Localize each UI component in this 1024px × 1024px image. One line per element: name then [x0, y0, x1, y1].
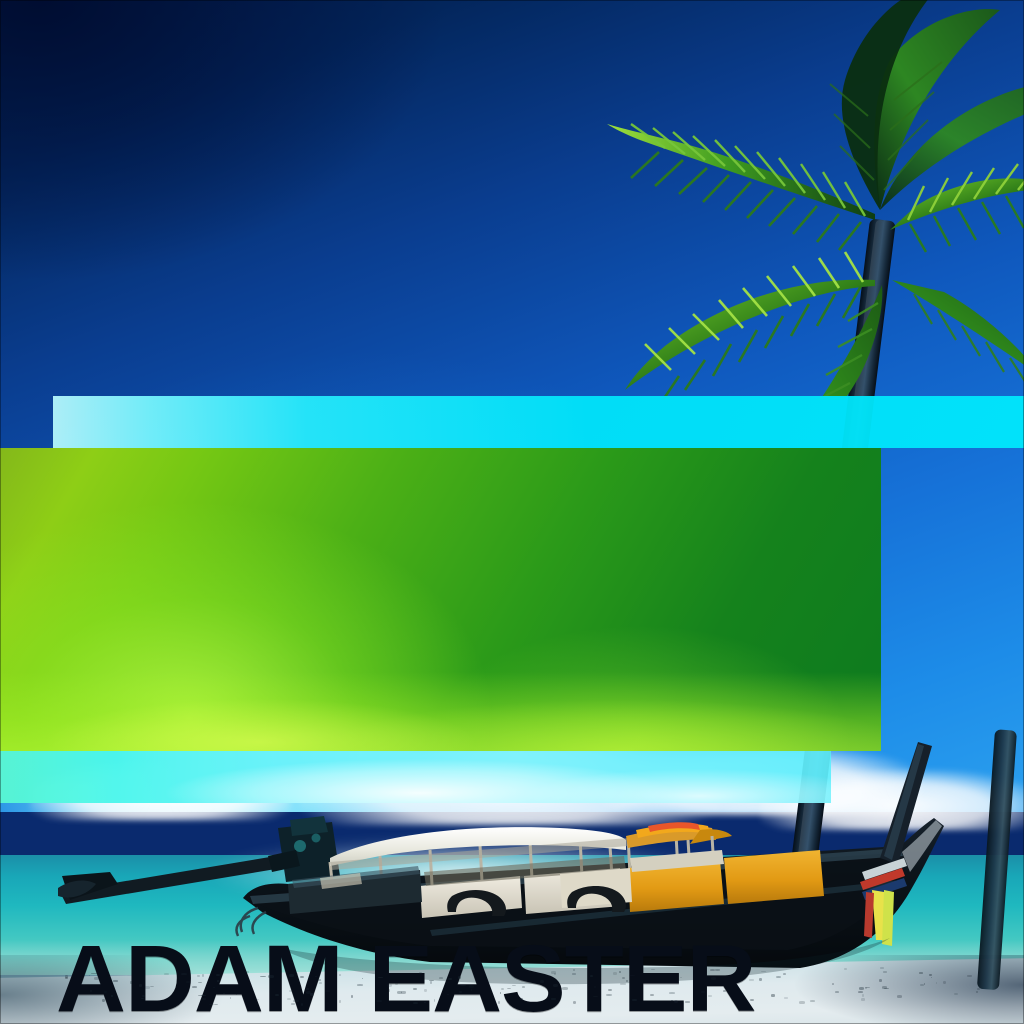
beach-speck: [113, 980, 118, 982]
beach-speck: [632, 999, 637, 1001]
beach-speck: [164, 973, 169, 975]
beach-speck: [685, 1001, 690, 1003]
beach-speck: [711, 977, 716, 980]
beach-speck: [130, 981, 132, 984]
beach-speck: [289, 990, 293, 992]
beach-speck: [967, 975, 972, 977]
beach-speck: [300, 976, 304, 978]
beach-speck: [268, 975, 274, 978]
cyan-band-bottom: [0, 751, 831, 803]
beach-speck: [976, 991, 978, 993]
beach-speck: [94, 977, 99, 980]
beach-speck: [65, 975, 68, 978]
cyan-band-top: [53, 396, 1024, 448]
title-block: ADAM EASTER FEAT. STEPHANIE THE SUMMER H…: [0, 448, 881, 751]
beach-speck: [306, 991, 311, 994]
beach-speck: [91, 973, 97, 974]
beach-speck: [192, 986, 197, 988]
beach-speck: [540, 980, 544, 983]
beach-speck: [424, 989, 427, 992]
beach-speck: [291, 1003, 295, 1005]
album-cover-artwork: ADAM EASTER FEAT. STEPHANIE THE SUMMER H…: [0, 0, 1024, 1024]
beach-speck: [723, 990, 726, 992]
beach-speck: [551, 998, 556, 1000]
beach-speck: [448, 978, 452, 980]
beach-speck: [287, 998, 291, 1000]
beach-speck: [429, 980, 434, 981]
beach-speck: [289, 974, 294, 977]
beach-speck: [111, 995, 113, 997]
beach-speck: [357, 984, 363, 986]
beach-speck: [301, 1003, 303, 1006]
beach-speck: [439, 977, 443, 979]
beach-speck: [562, 987, 568, 990]
beach-speck: [275, 994, 279, 996]
beach-speck: [862, 994, 864, 997]
beach-speck: [844, 968, 847, 970]
beach-speck: [498, 1001, 500, 1004]
beach-speck: [669, 992, 675, 994]
beach-speck: [217, 980, 219, 982]
beach-speck: [419, 972, 422, 974]
boat-engine: [268, 816, 340, 882]
beach-speck: [197, 975, 200, 977]
artist-name: ADAM EASTER: [56, 932, 852, 1024]
beach-speck: [759, 978, 762, 981]
beach-speck: [810, 1000, 815, 1002]
beach-speck: [430, 981, 432, 984]
beach-speck: [882, 986, 887, 989]
beach-speck: [671, 1000, 673, 1001]
beach-speck: [613, 972, 617, 975]
beach-speck: [376, 1000, 382, 1002]
beach-speck: [339, 1000, 341, 1003]
beach-speck: [293, 1000, 299, 1002]
beach-speck: [861, 998, 865, 1001]
beach-speck: [771, 994, 775, 997]
beach-speck: [859, 987, 864, 990]
beach-speck: [799, 1001, 805, 1004]
beach-speck: [897, 995, 902, 998]
beach-speck: [835, 991, 839, 993]
beach-speck: [458, 976, 461, 979]
beach-speck: [701, 991, 705, 993]
beach-speck: [943, 981, 946, 984]
beach-speck: [245, 971, 249, 973]
beach-speck: [202, 974, 204, 977]
beach-speck: [977, 988, 980, 990]
beach-speck: [832, 983, 834, 985]
beach-speck: [858, 991, 863, 993]
beach-speck: [954, 993, 958, 995]
beach-speck: [181, 973, 187, 975]
beach-speck: [325, 990, 330, 992]
beach-speck: [102, 999, 105, 1002]
beach-speck: [883, 971, 887, 973]
beach-speck: [553, 984, 558, 987]
beach-speck: [469, 985, 474, 988]
beach-speck: [186, 981, 190, 983]
beach-speck: [783, 973, 786, 975]
beach-speck: [306, 988, 309, 990]
beach-speck: [573, 1001, 576, 1004]
beach-speck: [620, 983, 626, 985]
beach-speck: [139, 984, 142, 987]
beach-speck: [551, 971, 556, 974]
beach-speck: [573, 969, 575, 971]
beach-speck: [387, 984, 392, 987]
beach-speck: [401, 991, 406, 994]
beach-speck: [351, 995, 353, 998]
beach-speck: [572, 973, 576, 975]
beach-speck: [318, 979, 321, 981]
beach-speck: [715, 969, 720, 971]
beach-speck: [459, 991, 462, 993]
beach-speck: [145, 986, 150, 989]
beach-speck: [590, 975, 593, 977]
beach-speck: [619, 971, 621, 973]
beach-speck: [749, 979, 754, 981]
beach-speck: [395, 983, 398, 985]
beach-speck: [919, 972, 923, 974]
beach-speck: [920, 984, 924, 986]
beach-speck: [447, 994, 449, 995]
